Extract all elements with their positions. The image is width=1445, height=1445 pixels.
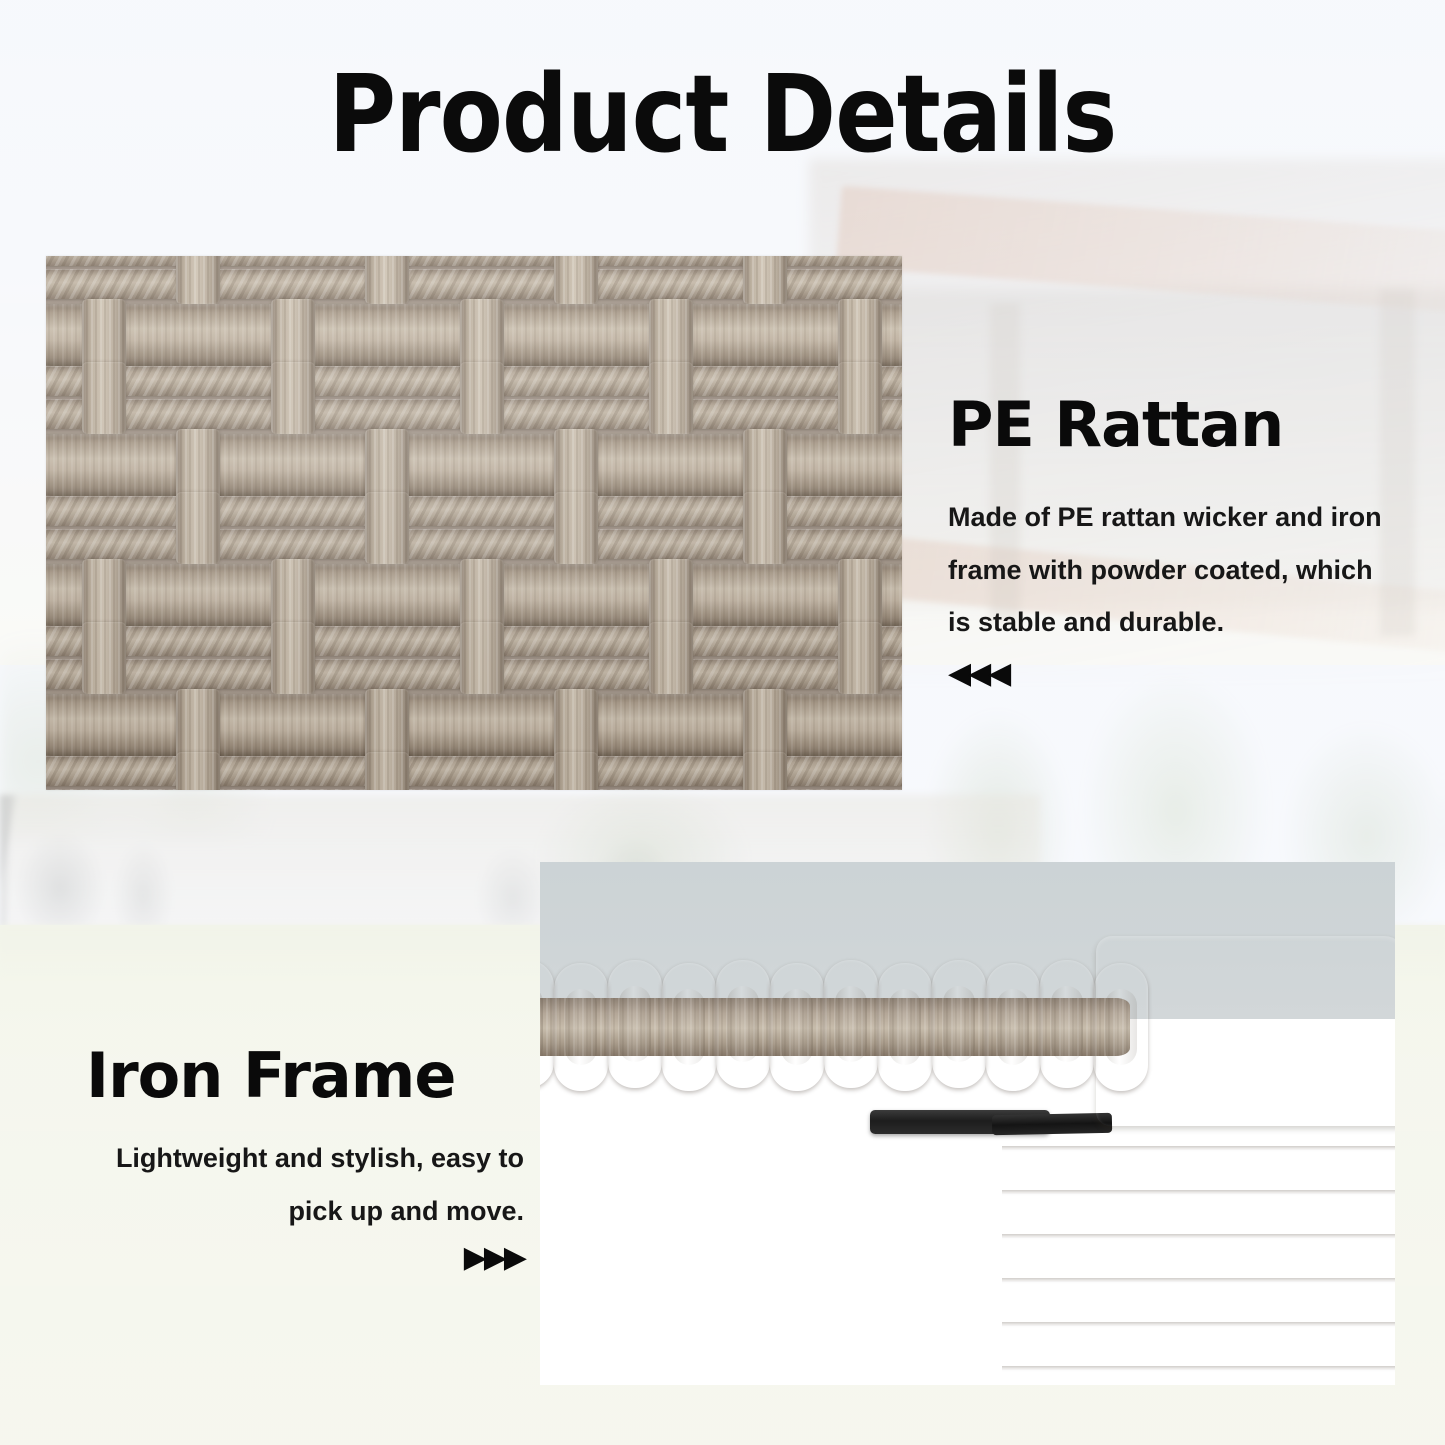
rim-loop xyxy=(1094,963,1148,1091)
rattan-post xyxy=(460,622,504,694)
rattan-post xyxy=(365,429,409,501)
rim-loop xyxy=(986,963,1040,1091)
rim-loop xyxy=(716,960,770,1088)
rattan-post xyxy=(460,362,504,434)
rattan-post xyxy=(460,559,504,631)
rattan-post xyxy=(554,689,598,761)
rattan-post xyxy=(82,559,126,631)
rattan-post xyxy=(176,492,220,564)
side-weave-post xyxy=(1276,1112,1316,1385)
rattan-post xyxy=(365,492,409,564)
iron-frame-body: Lightweight and stylish, easy to pick up… xyxy=(86,1132,524,1237)
iron-frame-bar-secondary xyxy=(992,1113,1112,1136)
rim-loop xyxy=(824,960,878,1088)
side-weave-band xyxy=(1002,1150,1395,1190)
left-arrows-icon: ◀◀◀ xyxy=(948,659,1418,689)
rattan-post xyxy=(554,429,598,501)
rattan-post xyxy=(554,256,598,304)
rattan-post xyxy=(82,622,126,694)
side-weave-band xyxy=(1002,1282,1395,1322)
iron-frame-text-block: Iron Frame Lightweight and stylish, easy… xyxy=(86,1043,524,1273)
rattan-post xyxy=(743,256,787,304)
rim-loop xyxy=(540,960,554,1088)
rattan-post xyxy=(271,299,315,371)
rattan-post xyxy=(838,559,882,631)
rattan-post xyxy=(460,299,504,371)
rattan-post xyxy=(554,492,598,564)
pe-rattan-photo xyxy=(46,256,902,790)
right-arrows-icon: ▶▶▶ xyxy=(86,1243,524,1273)
rim-loop xyxy=(662,963,716,1091)
rattan-post xyxy=(82,362,126,434)
rattan-post xyxy=(838,362,882,434)
rattan-post xyxy=(176,256,220,304)
rattan-post xyxy=(838,622,882,694)
side-weave-post xyxy=(1012,1112,1052,1385)
rattan-post xyxy=(743,689,787,761)
rim-loop xyxy=(932,960,986,1088)
rattan-post xyxy=(649,362,693,434)
rattan-post xyxy=(649,622,693,694)
pe-rattan-text-block: PE Rattan Made of PE rattan wicker and i… xyxy=(948,392,1418,689)
pe-rattan-body: Made of PE rattan wicker and iron frame … xyxy=(948,491,1400,649)
side-weave-post xyxy=(1210,1112,1250,1385)
rattan-post xyxy=(743,492,787,564)
rattan-post xyxy=(271,559,315,631)
frame-side-weave xyxy=(1002,1112,1395,1385)
side-weave-band xyxy=(1002,1238,1395,1278)
rattan-post xyxy=(554,752,598,790)
product-details-infographic: Product Details PE Rattan Made of PE rat… xyxy=(0,0,1445,1445)
rattan-post xyxy=(176,429,220,501)
side-weave-post xyxy=(1144,1112,1184,1385)
iron-frame-heading: Iron Frame xyxy=(86,1043,524,1108)
rattan-post xyxy=(271,622,315,694)
wicker-rim xyxy=(540,958,1130,1096)
rattan-post xyxy=(743,752,787,790)
rattan-post xyxy=(365,752,409,790)
rattan-post xyxy=(838,299,882,371)
rim-loop xyxy=(1040,960,1094,1088)
rattan-post xyxy=(365,256,409,304)
rattan-post xyxy=(649,559,693,631)
side-weave-post xyxy=(1078,1112,1118,1385)
rattan-post xyxy=(271,362,315,434)
rattan-post xyxy=(649,299,693,371)
page-title: Product Details xyxy=(101,62,1344,169)
rattan-weave-texture xyxy=(46,256,902,790)
rattan-post xyxy=(743,429,787,501)
rattan-post xyxy=(365,689,409,761)
rim-loop xyxy=(554,963,608,1091)
rim-loop xyxy=(770,963,824,1091)
rattan-post xyxy=(176,752,220,790)
pe-rattan-heading: PE Rattan xyxy=(948,392,1418,457)
rattan-post xyxy=(82,299,126,371)
side-weave-band xyxy=(1002,1194,1395,1234)
rim-loop xyxy=(878,963,932,1091)
side-weave-band xyxy=(1002,1370,1395,1385)
side-weave-band xyxy=(1002,1326,1395,1366)
rattan-post xyxy=(176,689,220,761)
side-weave-post xyxy=(1342,1112,1382,1385)
rim-loop xyxy=(608,960,662,1088)
iron-frame-photo xyxy=(540,862,1395,1385)
